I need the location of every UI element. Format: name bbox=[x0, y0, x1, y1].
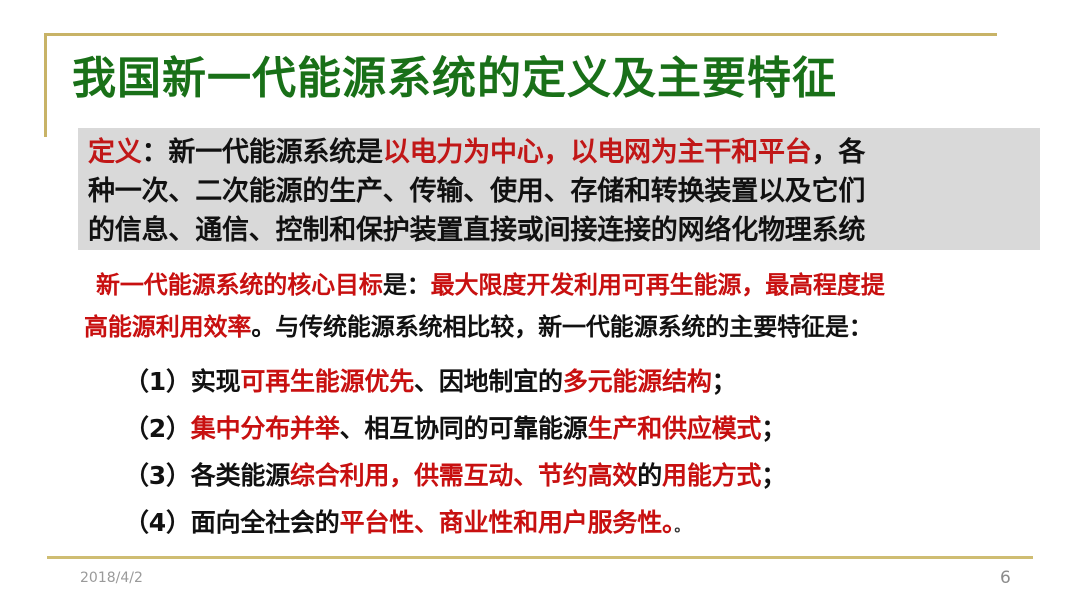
core-goal-label: 新一代能源系统的核心目标 bbox=[96, 271, 383, 299]
footer-page-number: 6 bbox=[1000, 568, 1011, 588]
definition-line-2: 种一次、二次能源的生产、传输、使用、存储和转换装置以及它们 bbox=[88, 172, 1032, 211]
list-item-2-end: ； bbox=[761, 414, 786, 443]
list-item-1-red-1: 可再生能源优先 bbox=[240, 367, 414, 396]
list-item-1-red-2: 多元能源结构 bbox=[563, 367, 712, 396]
slide-canvas: 我国新一代能源系统的定义及主要特征 定义：新一代能源系统是以电力为中心，以电网为… bbox=[0, 0, 1080, 608]
core-goal-emphasis-2: 高能源利用效率 bbox=[84, 313, 251, 341]
definition-line2-text: 种一次、二次能源的生产、传输、使用、存储和转换装置以及它们 bbox=[88, 176, 865, 207]
definition-line1-part4: ，各 bbox=[812, 137, 866, 168]
core-goal-line-2: 高能源利用效率。与传统能源系统相比较，新一代能源系统的主要特征是： bbox=[84, 306, 1036, 348]
core-goal-emphasis-1: 最大限度开发利用可再生能源，最高程度提 bbox=[431, 271, 885, 299]
list-item-3-end: ； bbox=[761, 461, 786, 490]
list-item-1-number: （1）实现 bbox=[124, 367, 240, 396]
list-item: （3）各类能源综合利用，供需互动、节约高效的用能方式； bbox=[124, 452, 1024, 499]
definition-line-3: 的信息、通信、控制和保护装置直接或间接连接的网络化物理系统 bbox=[88, 211, 1032, 250]
core-goal-paragraph: 新一代能源系统的核心目标是：最大限度开发利用可再生能源，最高程度提 高能源利用效… bbox=[96, 264, 1036, 348]
list-item-1-mid: 、因地制宜的 bbox=[414, 367, 563, 396]
definition-line1-part3: 以电力为中心，以电网为主干和平台 bbox=[383, 137, 812, 168]
definition-label: 定义 bbox=[88, 137, 142, 168]
definition-line3-text: 的信息、通信、控制和保护装置直接或间接连接的网络化物理系统 bbox=[88, 215, 865, 246]
list-item-3-red-2: 用能方式 bbox=[662, 461, 761, 490]
list-item-2-mid: 、相互协同的可靠能源 bbox=[340, 414, 588, 443]
feature-list: （1）实现可再生能源优先、因地制宜的多元能源结构； （2）集中分布并举、相互协同… bbox=[124, 358, 1024, 550]
list-item: （4）面向全社会的平台性、商业性和用户服务性。。 bbox=[124, 499, 1024, 550]
list-item-3-red-1: 综合利用，供需互动、节约高效 bbox=[290, 461, 637, 490]
list-item-4-end: 。 bbox=[674, 517, 689, 535]
definition-line1-part2: ：新一代能源系统是 bbox=[142, 137, 383, 168]
list-item-1-end: ； bbox=[712, 367, 737, 396]
core-goal-connector: 是： bbox=[383, 271, 431, 299]
core-goal-line2-rest: 。与传统能源系统相比较，新一代能源系统的主要特征是： bbox=[251, 313, 872, 341]
gold-left-rule bbox=[44, 33, 47, 137]
gold-bottom-rule bbox=[47, 556, 1033, 559]
list-item: （2）集中分布并举、相互协同的可靠能源生产和供应模式； bbox=[124, 405, 1024, 452]
gold-top-rule bbox=[44, 33, 997, 36]
list-item: （1）实现可再生能源优先、因地制宜的多元能源结构； bbox=[124, 358, 1024, 405]
list-item-2-number: （2） bbox=[124, 414, 191, 443]
definition-line-1: 定义：新一代能源系统是以电力为中心，以电网为主干和平台，各 bbox=[88, 133, 1032, 172]
list-item-3-mid: 的 bbox=[637, 461, 662, 490]
list-item-2-red-2: 生产和供应模式 bbox=[588, 414, 762, 443]
list-item-3-number: （3）各类能源 bbox=[124, 461, 290, 490]
list-item-4-red-1: 平台性、商业性和用户服务性。 bbox=[340, 508, 675, 537]
list-item-4-number: （4）面向全社会的 bbox=[124, 508, 340, 537]
core-goal-line-1: 新一代能源系统的核心目标是：最大限度开发利用可再生能源，最高程度提 bbox=[96, 264, 1036, 306]
definition-box: 定义：新一代能源系统是以电力为中心，以电网为主干和平台，各 种一次、二次能源的生… bbox=[78, 128, 1040, 250]
list-item-2-red-1: 集中分布并举 bbox=[191, 414, 340, 443]
footer-date: 2018/4/2 bbox=[80, 570, 143, 586]
page-title: 我国新一代能源系统的定义及主要特征 bbox=[72, 52, 1012, 106]
